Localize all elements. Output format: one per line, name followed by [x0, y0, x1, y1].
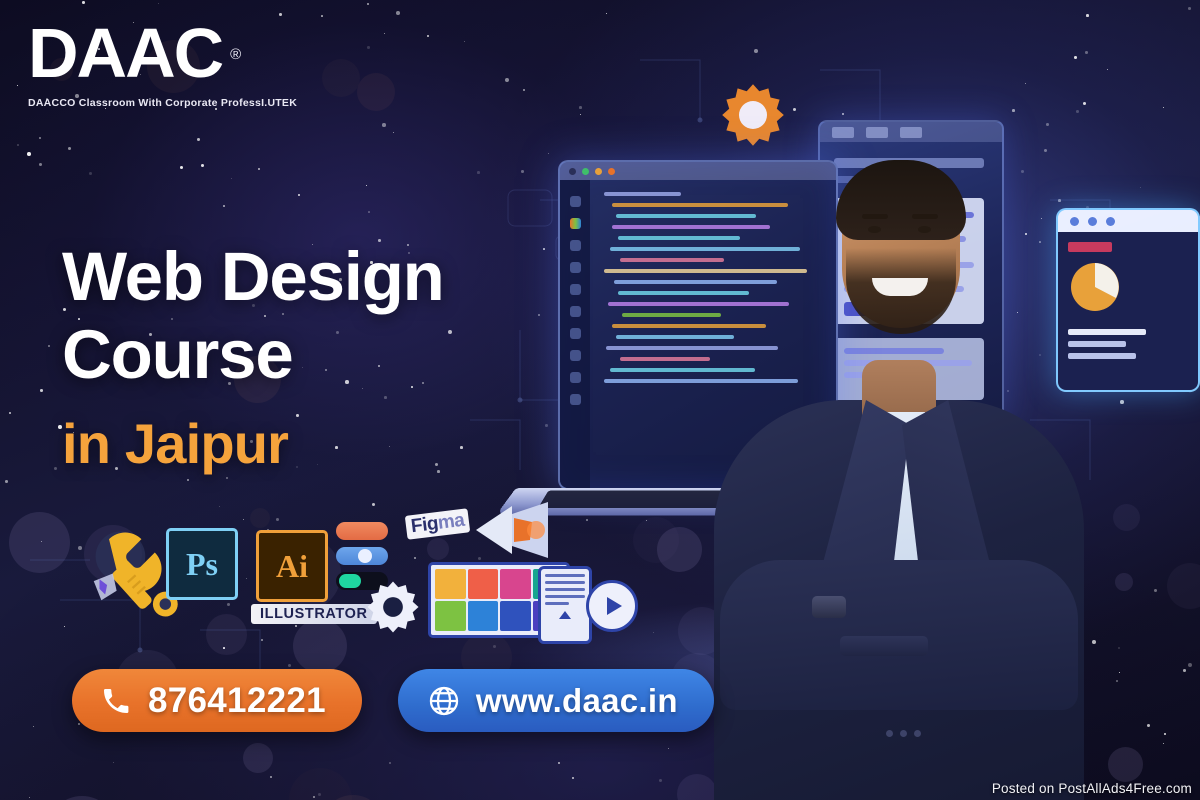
star: [54, 467, 57, 470]
logo-text: DAAC: [28, 14, 222, 92]
toggle-orange[interactable]: [336, 522, 388, 540]
headline-group: Web Design Course in Jaipur: [62, 238, 444, 474]
bokeh-circle: [1108, 747, 1143, 782]
star: [180, 166, 183, 169]
poster-canvas: DAAC ® DAACCO Classroom With Corporate P…: [0, 0, 1200, 800]
hair: [836, 160, 966, 240]
star: [1086, 14, 1089, 17]
star: [298, 194, 300, 196]
sidebar-icon[interactable]: [570, 306, 581, 317]
star: [367, 46, 370, 49]
sidebar-icon[interactable]: [570, 394, 581, 405]
sidebar-icon[interactable]: [570, 284, 581, 295]
sidebar-icon[interactable]: [570, 196, 581, 207]
star: [48, 345, 50, 347]
star: [187, 479, 189, 481]
star: [460, 446, 463, 449]
figma-label-part2: ma: [437, 510, 466, 534]
bokeh-circle: [289, 768, 352, 800]
star: [384, 33, 385, 34]
sidebar-icon[interactable]: [570, 350, 581, 361]
star: [231, 178, 232, 179]
watermark-text: Posted on PostAllAds4Free.com: [992, 781, 1192, 796]
sidebar-icon[interactable]: [570, 262, 581, 273]
window-dot[interactable]: [582, 168, 589, 175]
star: [258, 168, 260, 170]
suit-button: [900, 730, 907, 737]
sidebar-icon[interactable]: [570, 372, 581, 383]
bokeh-circle: [243, 743, 273, 773]
star: [1188, 663, 1192, 667]
star: [368, 211, 370, 213]
window-dot[interactable]: [569, 168, 576, 175]
palette-swatch[interactable]: [435, 569, 466, 599]
bokeh-circle: [321, 795, 385, 800]
illustrator-icon[interactable]: Ai: [256, 530, 328, 602]
headline-line-1: Web Design: [62, 238, 444, 316]
palette-swatch[interactable]: [435, 601, 466, 631]
headline-location: in Jaipur: [62, 414, 444, 474]
photoshop-label: Ps: [186, 546, 218, 583]
brand-tagline: DAACCO Classroom With Corporate ProfessI…: [28, 97, 297, 109]
bokeh-circle: [357, 73, 395, 111]
star: [1116, 680, 1118, 682]
star: [223, 205, 225, 207]
star: [1147, 724, 1150, 727]
bokeh-circle: [322, 59, 360, 97]
bokeh-circle: [47, 796, 117, 800]
code-line: [604, 192, 681, 196]
palette-swatch[interactable]: [500, 569, 531, 599]
toggle-knob: [339, 574, 361, 588]
suit-button: [914, 730, 921, 737]
phone-cta-button[interactable]: 876412221: [72, 669, 362, 732]
star: [1163, 743, 1164, 744]
phone-icon: [98, 683, 134, 719]
logo-wordmark: DAAC ®: [28, 18, 222, 88]
star: [288, 664, 291, 667]
figma-label-part1: Fig: [410, 513, 439, 537]
star: [558, 762, 560, 764]
star: [382, 123, 386, 127]
eye-left: [868, 226, 881, 233]
bokeh-circle: [9, 512, 70, 573]
star: [1119, 672, 1120, 673]
sidebar-icon[interactable]: [570, 328, 581, 339]
star: [9, 412, 11, 414]
star: [606, 13, 607, 14]
illustrator-label: Ai: [276, 548, 308, 585]
instructor-photo: [690, 40, 1110, 800]
website-url-label: www.daac.in: [476, 682, 678, 720]
sidebar-icon[interactable]: [570, 240, 581, 251]
star: [1164, 733, 1166, 735]
star: [89, 172, 92, 175]
illustrator-caption: ILLUSTRATOR: [251, 604, 377, 624]
eyebrow-right: [912, 214, 938, 219]
star: [1188, 7, 1191, 10]
star: [64, 626, 65, 627]
phone-number-label: 876412221: [148, 681, 326, 721]
star: [659, 779, 662, 782]
star: [41, 541, 42, 542]
star: [393, 132, 394, 133]
star: [39, 163, 42, 166]
star: [82, 1, 85, 4]
toggle-blue[interactable]: [336, 547, 388, 565]
registered-trademark-icon: ®: [230, 20, 239, 90]
star: [653, 632, 654, 633]
sidebar-icon[interactable]: [570, 218, 581, 229]
eyebrow-left: [862, 214, 888, 219]
editor-sidebar[interactable]: [560, 180, 590, 488]
star: [572, 777, 574, 779]
palette-swatch[interactable]: [468, 601, 499, 631]
gear-icon: [364, 578, 422, 636]
mobile-line: [545, 588, 585, 591]
star: [1183, 669, 1186, 672]
eye-right: [918, 226, 931, 233]
star: [39, 137, 41, 139]
cta-button-row: 876412221 www.daac.in: [72, 669, 714, 732]
mobile-preview-icon[interactable]: [538, 566, 592, 644]
suit-button: [886, 730, 893, 737]
palette-swatch[interactable]: [468, 569, 499, 599]
star: [318, 793, 321, 796]
star: [389, 762, 391, 764]
window-dot[interactable]: [608, 168, 615, 175]
mobile-line: [545, 581, 585, 584]
star: [396, 11, 400, 15]
star: [366, 185, 367, 186]
star: [270, 776, 272, 778]
star: [321, 15, 323, 17]
globe-icon: [426, 683, 462, 719]
star: [477, 171, 480, 174]
star: [367, 3, 369, 5]
star: [17, 85, 18, 86]
star: [1118, 647, 1120, 649]
play-icon[interactable]: [586, 580, 638, 632]
brand-logo: DAAC ® DAACCO Classroom With Corporate P…: [28, 18, 297, 109]
star: [33, 726, 34, 727]
star: [464, 41, 465, 42]
star: [40, 389, 43, 392]
star: [201, 164, 204, 167]
toggle-knob: [358, 549, 372, 563]
tool-icon-cluster: Ps Ai ILLUSTRATOR Figma: [88, 500, 628, 650]
star: [78, 546, 82, 550]
star: [17, 144, 19, 146]
wristwatch: [812, 596, 846, 618]
photoshop-icon[interactable]: Ps: [166, 528, 238, 600]
star: [5, 480, 8, 483]
star: [427, 35, 429, 37]
megaphone-icon: [470, 500, 560, 560]
star: [27, 152, 31, 156]
mobile-line: [545, 595, 585, 598]
star: [279, 13, 282, 16]
star: [197, 138, 200, 141]
star: [113, 762, 114, 763]
star: [29, 797, 30, 798]
figma-logo[interactable]: Figma: [405, 508, 471, 540]
window-dot[interactable]: [595, 168, 602, 175]
star: [158, 3, 159, 4]
headline-line-2: Course: [62, 316, 444, 394]
shirt-cuff: [840, 636, 928, 656]
mobile-line: [545, 602, 569, 605]
website-cta-button[interactable]: www.daac.in: [398, 669, 714, 732]
palette-swatch[interactable]: [500, 601, 531, 631]
star: [313, 796, 315, 798]
star: [68, 147, 71, 150]
crossed-arms: [720, 560, 1078, 710]
mobile-line: [545, 574, 585, 577]
star: [448, 330, 452, 334]
star: [668, 748, 669, 749]
star: [226, 477, 228, 479]
